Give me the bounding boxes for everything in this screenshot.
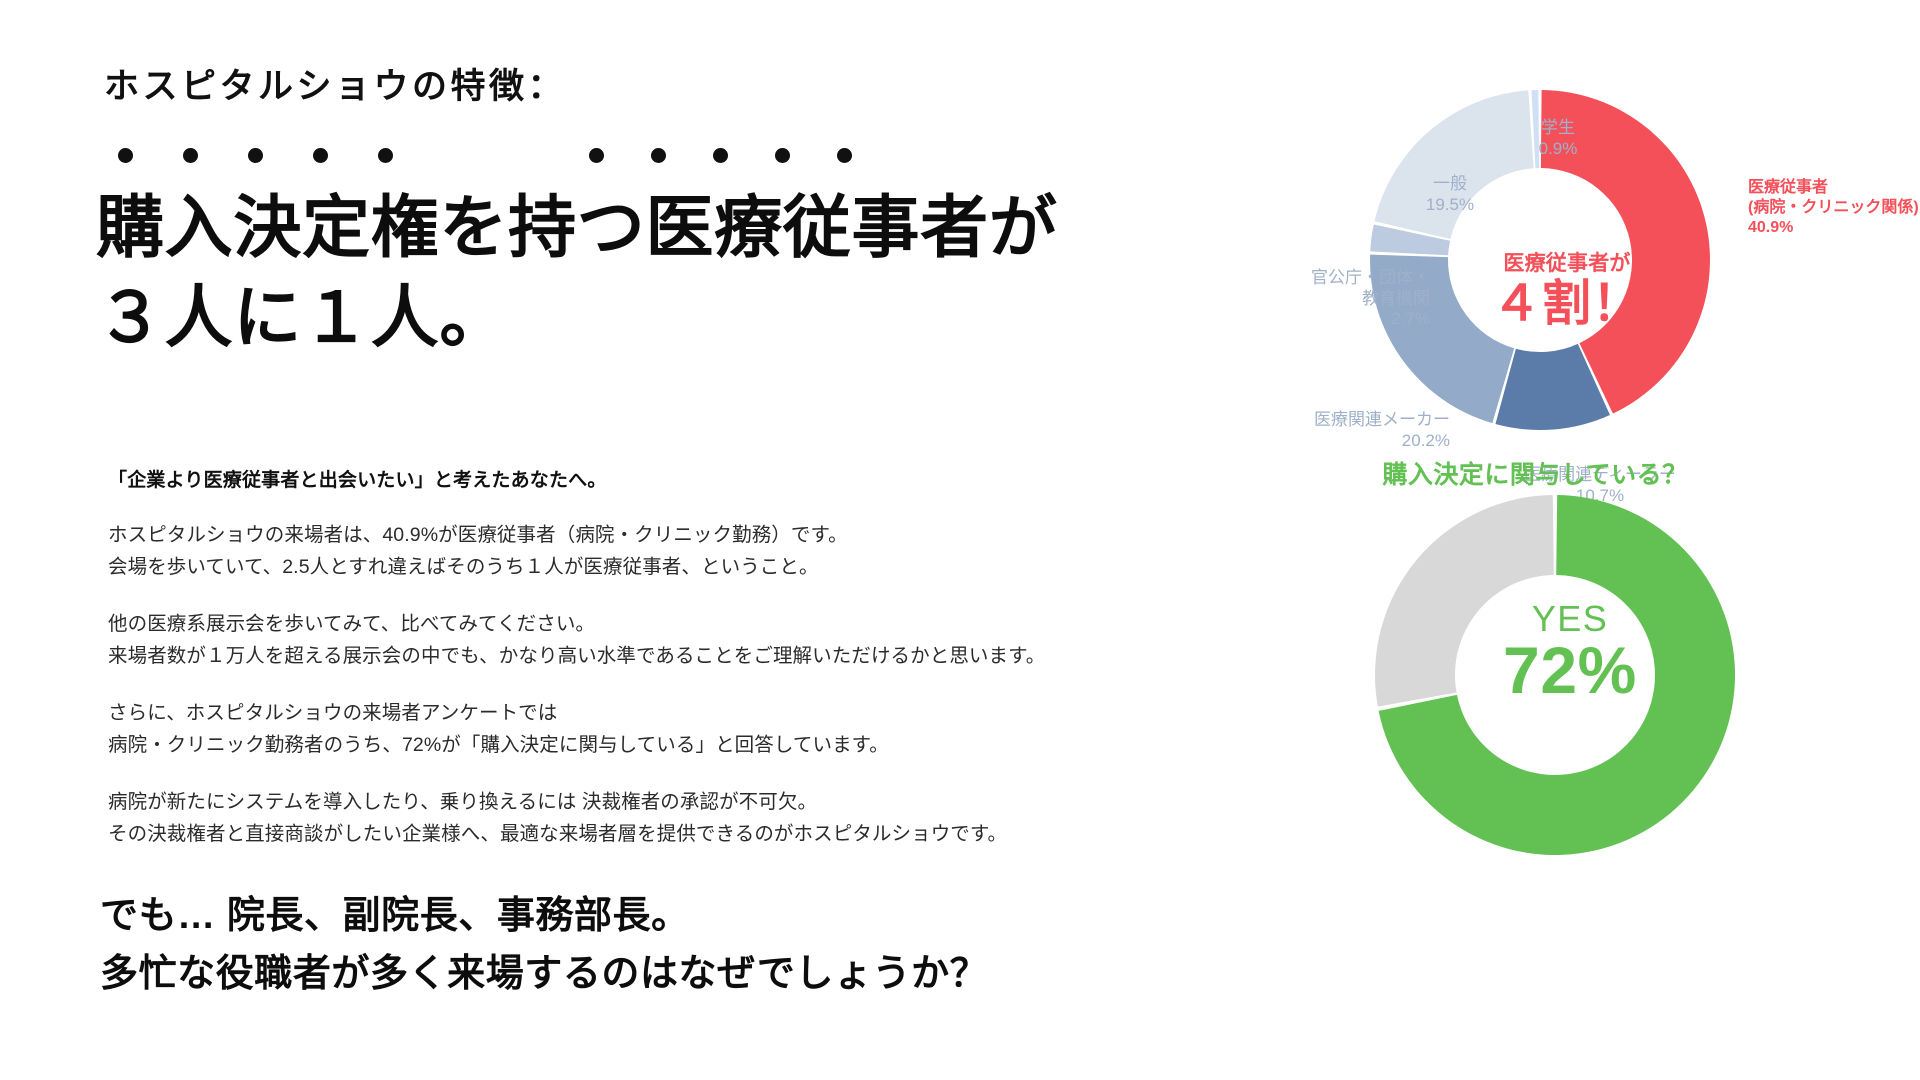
donut-slice [1375,495,1554,707]
emphasis-dot [313,148,328,163]
emphasis-dot [118,148,133,163]
left-content-column: ホスピタルショウの特徴： 購入決定権を持つ医療従事者が ３人に１人。 「企業より… [0,0,1150,1080]
slice-label-maker: 医療関連メーカー 20.2% [1230,410,1450,451]
page-title: 購入決定権を持つ医療従事者が ３人に１人。 [96,184,1116,364]
donut-slice [1374,90,1533,239]
body-paragraph: 病院が新たにシステムを導入したり、乗り換えるには 決裁権者の承認が不可欠。 その… [108,787,1118,850]
closing-statement: でも… 院長、副院長、事務部長。 多忙な役職者が多く来場するのはなぜでしょうか？ [100,888,1160,1004]
slice-label-medical-staff: 医療従事者 (病院・クリニック関係) 40.9% [1748,178,1920,238]
emphasis-dot [589,148,604,163]
body-paragraph: ホスピタルショウの来場者は、40.9%が医療従事者（病院・クリニック勤務）です。… [108,520,1118,583]
emphasis-dot [713,148,728,163]
slice-label-government: 官公庁・団体・ 教育機関 2.7% [1270,268,1430,330]
purchase-involvement-chart: YES 72% [1190,495,1890,915]
purchase-decision-heading: 購入決定に関与している？ [1150,455,1920,491]
emphasis-dot [837,148,852,163]
slice-label-student: 学生 0.9% [1498,118,1618,159]
emphasis-dot [183,148,198,163]
emphasis-dot [775,148,790,163]
slice-label-general: 一般 19.5% [1390,174,1510,215]
body-paragraph: 他の医療系展示会を歩いてみて、比べてみてください。 来場者数が１万人を超える展示… [108,609,1118,672]
visitor-composition-chart: 医療従事者が ４割！ 学生 0.9% 一般 19.5% 官公庁・団体・ 教育機関… [1190,60,1890,480]
yes-donut-graphic [1375,495,1735,855]
emphasis-dot [248,148,263,163]
emphasis-dot-row [104,148,1014,174]
right-chart-column: 医療従事者が ４割！ 学生 0.9% 一般 19.5% 官公庁・団体・ 教育機関… [1150,0,1920,1080]
emphasis-dot [378,148,393,163]
kicker-text: ホスピタルショウの特徴： [104,58,566,109]
slide-root: ホスピタルショウの特徴： 購入決定権を持つ医療従事者が ３人に１人。 「企業より… [0,0,1920,1080]
emphasis-dot [651,148,666,163]
lead-text: 「企業より医療従事者と出会いたい」と考えたあなたへ。 [108,465,607,492]
body-copy: ホスピタルショウの来場者は、40.9%が医療従事者（病院・クリニック勤務）です。… [108,520,1118,851]
body-paragraph: さらに、ホスピタルショウの来場者アンケートでは 病院・クリニック勤務者のうち、7… [108,698,1118,761]
